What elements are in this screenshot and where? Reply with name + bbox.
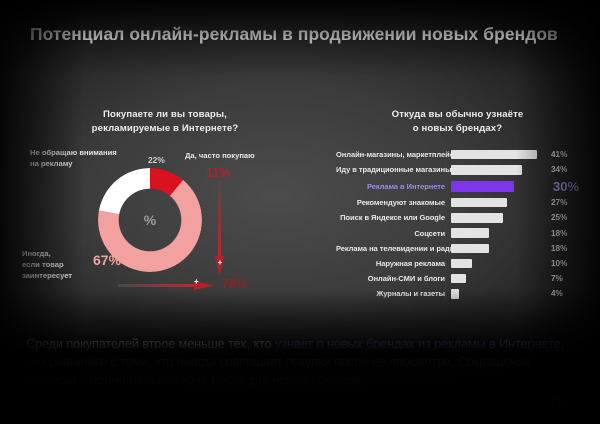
donut-value-yes-often: 11% [206, 166, 231, 180]
bar-track [451, 228, 545, 237]
bar-fill [451, 289, 459, 298]
bar-value: 7% [551, 274, 563, 283]
donut-value-no-attention: 22% [148, 155, 165, 165]
bar-fill [451, 181, 514, 192]
bar-track [451, 244, 545, 253]
bar-label: Соцсети [336, 229, 451, 238]
page-title: Потенциал онлайн-рекламы в продвижении н… [30, 24, 575, 45]
summary-accent: узнает о новых брендах из рекламы в Инте… [275, 337, 561, 351]
donut-value-sometimes: 67% [93, 252, 121, 268]
bar-track [451, 198, 545, 207]
left-panel-heading: Покупаете ли вы товары, рекламируемые в … [40, 108, 290, 136]
bar-value: 10% [551, 259, 567, 268]
bar-chart-row: Соцсети18% [336, 226, 586, 240]
bar-value: 18% [551, 229, 567, 238]
left-panel-heading-text: Покупаете ли вы товары, рекламируемые в … [92, 109, 239, 134]
bar-value: 41% [551, 150, 567, 159]
infographic-poster: Потенциал онлайн-рекламы в продвижении н… [0, 0, 600, 424]
bar-value: 4% [551, 289, 563, 298]
bar-value: 27% [551, 198, 567, 207]
bar-fill [451, 244, 489, 253]
bar-chart-row: Журналы и газеты4% [336, 287, 586, 301]
bar-fill [451, 198, 507, 207]
bar-track [451, 274, 545, 283]
summary-text: Среди покупателей втрое меньше тех, кто … [26, 336, 578, 390]
horizontal-gap-arrow: + [118, 277, 214, 286]
bar-track [451, 289, 545, 298]
donut-gap-value: 78% [222, 277, 247, 291]
bar-label: Поиск в Яндексе или Google [336, 213, 451, 222]
donut-label-sometimes: Иногда, если товар заинтересует [22, 249, 92, 281]
brand-logo [552, 398, 583, 409]
bar-value: 18% [551, 244, 567, 253]
logo-wordmark [564, 398, 582, 409]
bar-fill [451, 259, 472, 268]
bar-value: 25% [551, 213, 567, 222]
bar-fill [451, 150, 537, 159]
plus-icon-vertical: + [218, 259, 223, 267]
plus-icon-horizontal: + [194, 278, 199, 286]
right-panel-heading: Откуда вы обычно узнаёте о новых брендах… [340, 108, 575, 136]
bar-chart-row: Реклама в Интернете30% [336, 178, 586, 194]
bar-fill [451, 228, 489, 237]
bar-chart-row: Рекомендуют знакомые27% [336, 196, 586, 210]
bar-value: 34% [551, 165, 567, 174]
right-panel-heading-text: Откуда вы обычно узнаёте о новых брендах… [392, 109, 524, 134]
bar-fill [451, 274, 466, 283]
donut-label-yes-often: Да, часто покупаю [185, 151, 300, 162]
bar-track [451, 165, 545, 174]
bar-fill [451, 213, 503, 222]
bar-chart-row: Иду в традиционные магазины34% [336, 163, 586, 177]
logo-mark-icon [552, 398, 563, 409]
bar-track [451, 181, 545, 192]
bar-chart-row: Наружная реклама10% [336, 257, 586, 271]
logo-glyph-icon [554, 400, 561, 408]
bar-chart-row: Поиск в Яндексе или Google25% [336, 211, 586, 225]
bar-chart-row: Реклама на телевидении и радио18% [336, 242, 586, 256]
bar-fill [451, 165, 522, 174]
bar-track [451, 213, 545, 222]
bar-label: Онлайн-магазины, маркетплейсы [336, 150, 451, 159]
arrow-right-icon [118, 281, 214, 290]
bar-label: Реклама в Интернете [336, 182, 451, 191]
source-note: Путь клиента в розничной торговле: как п… [26, 399, 466, 404]
bar-chart-row: Онлайн-СМИ и блоги7% [336, 272, 586, 286]
bar-chart: Онлайн-магазины, маркетплейсы41%Иду в тр… [336, 148, 586, 302]
summary-part1: Среди покупателей втрое меньше тех, кто [26, 337, 275, 351]
bar-label: Журналы и газеты [336, 289, 451, 298]
vertical-gap-arrow: + [215, 180, 224, 276]
donut-label-no-attention: Не обращаю внимания на рекламу [30, 148, 140, 170]
bar-track [451, 150, 545, 159]
bar-label: Наружная реклама [336, 259, 451, 268]
bar-chart-row: Онлайн-магазины, маркетплейсы41% [336, 148, 586, 162]
bar-label: Рекомендуют знакомые [336, 198, 451, 207]
bar-label: Иду в традиционные магазины [336, 165, 451, 174]
bar-track [451, 259, 545, 268]
bar-label: Реклама на телевидении и радио [336, 244, 451, 253]
bar-value: 30% [553, 179, 579, 194]
bar-label: Онлайн-СМИ и блоги [336, 274, 451, 283]
